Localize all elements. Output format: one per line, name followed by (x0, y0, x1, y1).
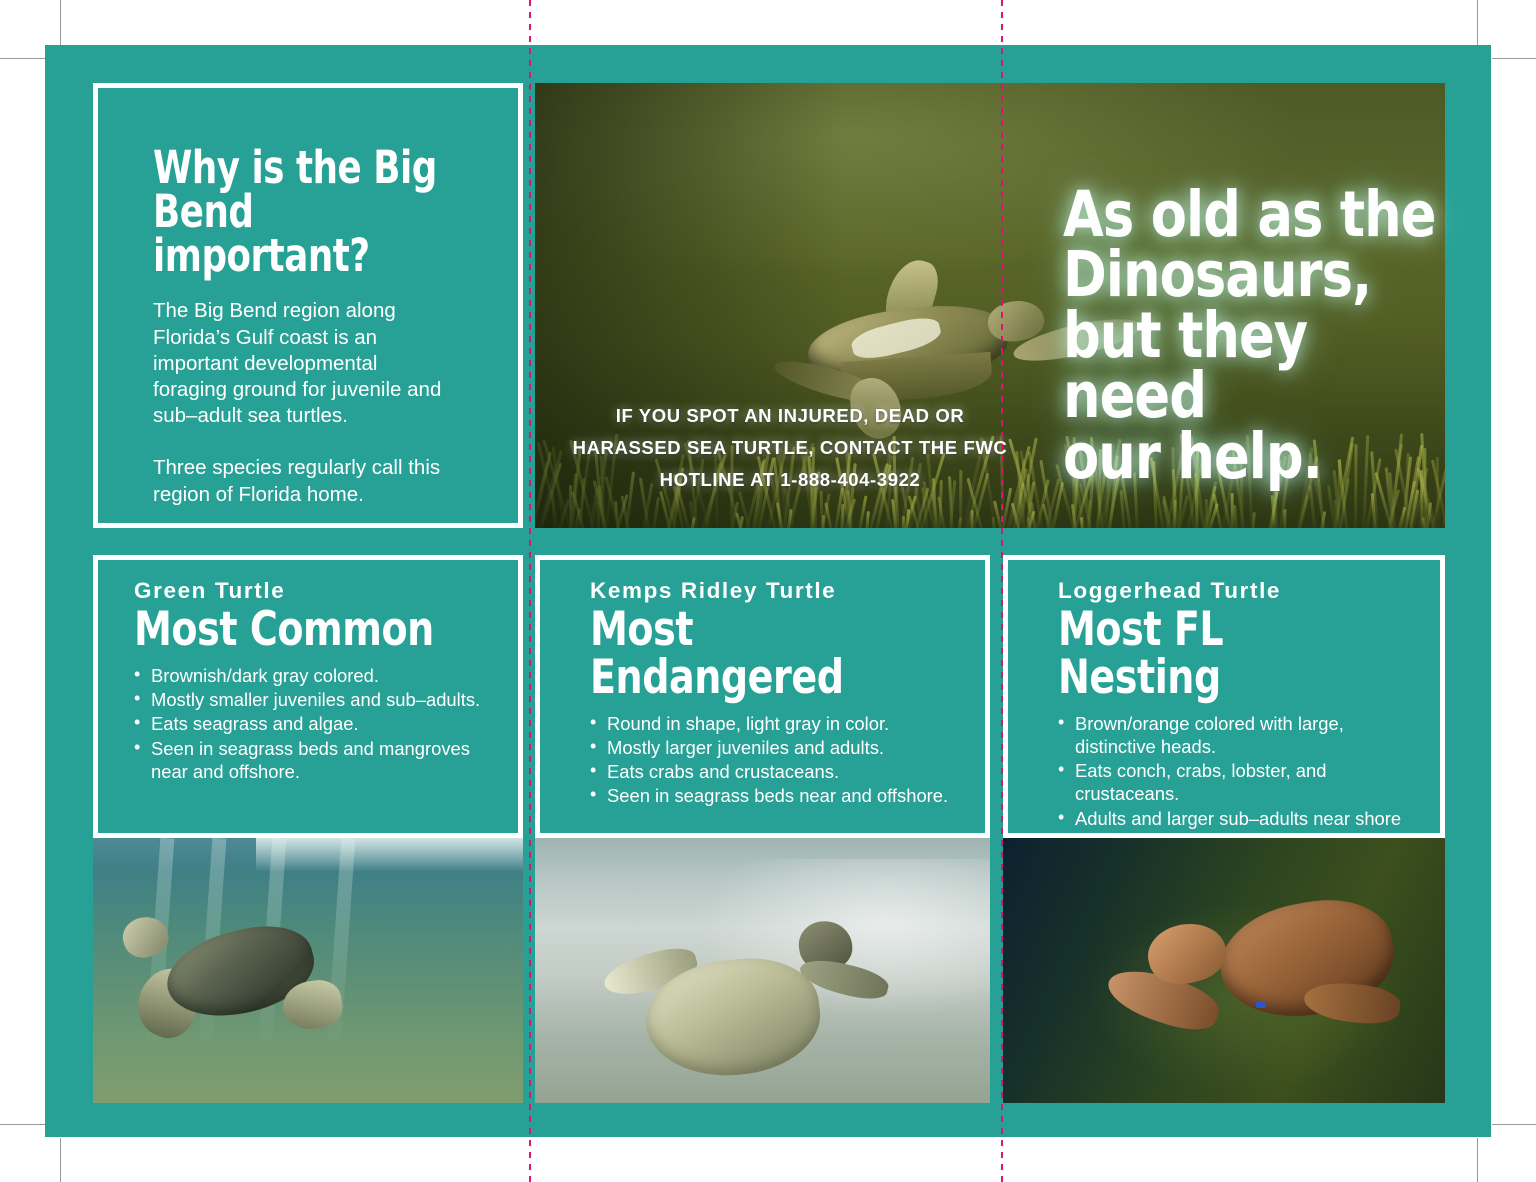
fwc-hotline-caption: IF YOU SPOT AN INJURED, DEAD OR HARASSED… (535, 400, 1045, 495)
why-big-bend-card: Why is the Big Bend important? The Big B… (93, 83, 523, 528)
species-card-loggerhead-turtle: Loggerhead Turtle Most FL Nesting Brown/… (1003, 555, 1445, 838)
why-panel-title: Why is the Big Bend important? (153, 146, 439, 278)
why-panel-paragraph-1: The Big Bend region along Florida’s Gulf… (153, 298, 478, 429)
water-surface-highlight (256, 838, 523, 872)
species-name-label: Green Turtle (134, 578, 496, 604)
flipper-tag (1256, 1001, 1266, 1008)
list-item: Mostly larger juveniles and adults. (590, 736, 963, 759)
turtle-rear-flipper (1302, 979, 1402, 1027)
crop-mark-bottom-left-horizontal (0, 1124, 47, 1125)
crop-mark-bottom-right-horizontal (1492, 1124, 1536, 1125)
photo-loggerhead-turtle (1003, 838, 1445, 1103)
list-item: Mostly smaller juveniles and sub–adults. (134, 688, 496, 711)
species-superlative: Most Common (134, 606, 460, 654)
photo-kemps-ridley-turtle (535, 838, 990, 1103)
kemps-ridley-turtle-illustration (635, 918, 899, 1082)
crop-mark-top-left-vertical (60, 0, 61, 48)
species-fact-list: Round in shape, light gray in color. Mos… (590, 712, 963, 808)
species-superlative: Most Endangered (590, 606, 926, 702)
crop-mark-bottom-left-vertical (60, 1138, 61, 1182)
top-row: Why is the Big Bend important? The Big B… (45, 45, 1491, 540)
list-item: Brown/orange colored with large, distinc… (1058, 712, 1418, 758)
crop-mark-top-right-vertical (1477, 0, 1478, 48)
crop-mark-top-left-horizontal (0, 58, 47, 59)
list-item: Seen in seagrass beds near and offshore. (590, 784, 963, 807)
list-item: Eats seagrass and algae. (134, 712, 496, 735)
species-card-green-turtle: Green Turtle Most Common Brownish/dark g… (93, 555, 523, 838)
crop-mark-bottom-right-vertical (1477, 1138, 1478, 1182)
list-item: Brownish/dark gray colored. (134, 664, 496, 687)
turtle-head (118, 911, 173, 963)
species-name-label: Loggerhead Turtle (1058, 578, 1418, 604)
species-fact-list: Brownish/dark gray colored. Mostly small… (134, 664, 496, 783)
fold-guide-left (529, 0, 531, 1182)
dinosaur-headline: As old as the Dinosaurs, but they need o… (1063, 185, 1463, 487)
why-panel-paragraph-2: Three species regularly call this region… (153, 455, 478, 507)
poster-artboard: Why is the Big Bend important? The Big B… (0, 0, 1536, 1182)
green-turtle-illustration (123, 912, 390, 1045)
species-name-label: Kemps Ridley Turtle (590, 578, 963, 604)
species-card-kemps-ridley-turtle: Kemps Ridley Turtle Most Endangered Roun… (535, 555, 990, 838)
list-item: Seen in seagrass beds and mangroves near… (134, 737, 496, 783)
fold-guide-right (1001, 0, 1003, 1182)
list-item: Eats conch, crabs, lobster, and crustace… (1058, 759, 1418, 805)
photo-green-turtle (93, 838, 523, 1103)
crop-mark-top-right-horizontal (1492, 58, 1536, 59)
loggerhead-turtle-illustration (1118, 886, 1419, 1061)
list-item: Eats crabs and crustaceans. (590, 760, 963, 783)
list-item: Round in shape, light gray in color. (590, 712, 963, 735)
species-superlative: Most FL Nesting (1058, 606, 1382, 702)
species-fact-list: Brown/orange colored with large, distinc… (1058, 712, 1418, 853)
teal-background-panel: Why is the Big Bend important? The Big B… (45, 45, 1491, 1137)
